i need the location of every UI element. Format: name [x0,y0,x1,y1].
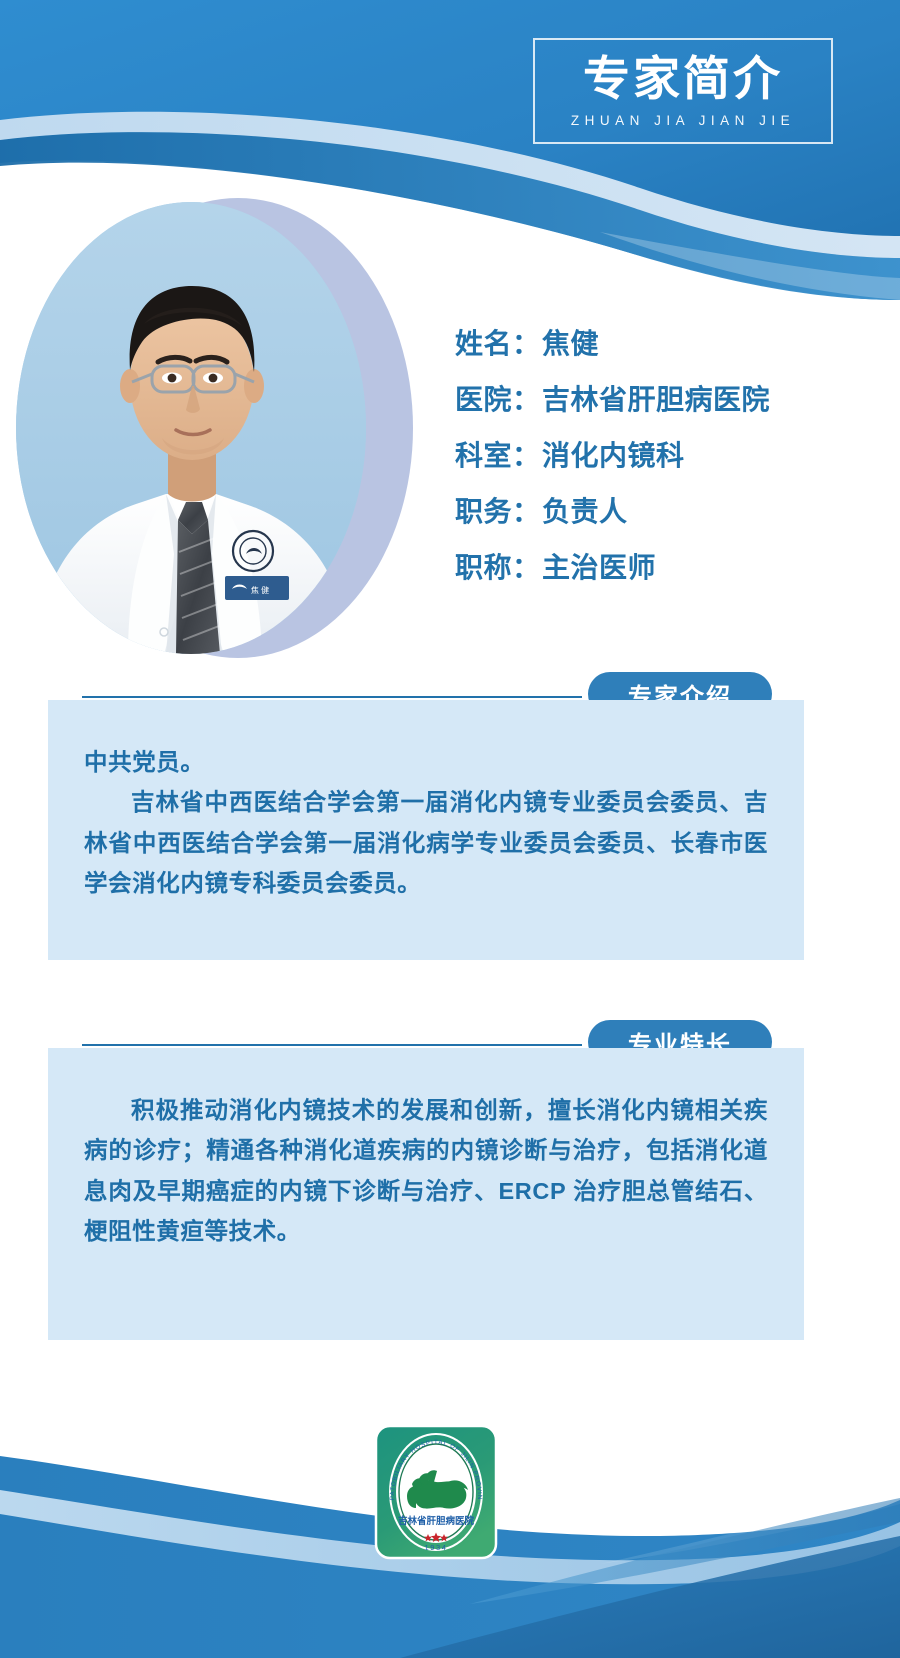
info-value-name: 焦健 [542,330,599,358]
info-value-department: 消化内镜科 [542,442,685,470]
portrait-disc: 焦 健 [16,202,366,654]
info-value-position: 负责人 [542,498,628,526]
section-rule-expert-intro [82,696,582,698]
doctor-photo: 焦 健 [16,202,366,654]
info-row-department: 科室 ： 消化内镜科 [455,442,885,470]
poster-title-cn: 专家简介 [583,54,783,103]
info-row-title: 职称 ： 主治医师 [455,554,885,582]
info-label-department: 科室 [455,442,512,470]
logo-year-text: 1934 [424,1543,447,1552]
info-colon-department: ： [512,442,540,470]
info-row-position: 职务 ： 负责人 [455,498,885,526]
portrait-area: 焦 健 [8,190,428,670]
info-label-position: 职务 [455,498,512,526]
poster-title-box: 专家简介 ZHUAN JIA JIAN JIE [533,38,833,144]
info-row-name: 姓名 ： 焦健 [455,330,885,358]
info-colon-hospital: ： [512,386,540,414]
svg-text:焦 健: 焦 健 [251,585,269,595]
logo-cn-text: 吉林省肝胆病医院 [398,1515,475,1527]
info-colon-position: ： [512,498,540,526]
hospital-logo: HEPATOBILIARY HOSPITAL OF JILIN PROVINCE… [374,1424,498,1560]
expert-intro-paragraph-2: 吉林省中西医结合学会第一届消化内镜专业委员会委员、吉林省中西医结合学会第一届消化… [84,782,768,903]
section-rule-specialty [82,1044,582,1046]
info-row-hospital: 医院 ： 吉林省肝胆病医院 [455,386,885,414]
info-label-name: 姓名 [455,330,512,358]
info-colon-title: ： [512,554,540,582]
poster-title-pinyin: ZHUAN JIA JIAN JIE [571,113,795,128]
section-body-expert-intro: 中共党员。 吉林省中西医结合学会第一届消化内镜专业委员会委员、吉林省中西医结合学… [48,700,804,960]
info-value-title: 主治医师 [542,554,656,582]
section-specialty: 专业特长 积极推动消化内镜技术的发展和创新，擅长消化内镜相关疾病的诊疗；精通各种… [0,1020,900,1064]
info-label-hospital: 医院 [455,386,512,414]
section-body-specialty: 积极推动消化内镜技术的发展和创新，擅长消化内镜相关疾病的诊疗；精通各种消化道疾病… [48,1048,804,1340]
info-value-hospital: 吉林省肝胆病医院 [542,386,770,414]
expert-profile-poster: 专家简介 ZHUAN JIA JIAN JIE [0,0,900,1658]
info-label-title: 职称 [455,554,512,582]
doctor-info-list: 姓名 ： 焦健 医院 ： 吉林省肝胆病医院 科室 ： 消化内镜科 职务 ： 负责… [455,330,885,610]
info-colon-name: ： [512,330,540,358]
specialty-paragraph-1: 积极推动消化内镜技术的发展和创新，擅长消化内镜相关疾病的诊疗；精通各种消化道疾病… [84,1090,768,1252]
section-expert-intro: 专家介绍 中共党员。 吉林省中西医结合学会第一届消化内镜专业委员会委员、吉林省中… [0,672,900,716]
expert-intro-paragraph-1: 中共党员。 [84,742,768,782]
